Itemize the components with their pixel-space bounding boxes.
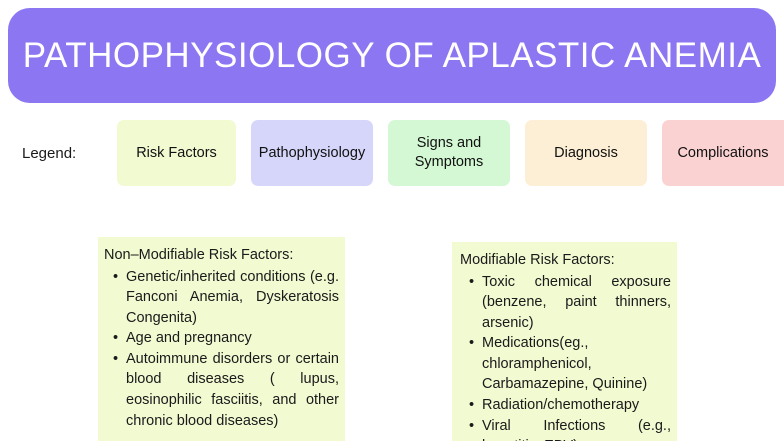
legend-chip-diagnosis[interactable]: Diagnosis — [525, 120, 647, 186]
list-item: Viral Infections (e.g., hepatitis, EBV) — [482, 416, 671, 441]
legend-chip-pathophysiology[interactable]: Pathophysiology — [251, 120, 373, 186]
page-title-banner: PATHOPHYSIOLOGY OF APLASTIC ANEMIA — [8, 8, 776, 103]
legend-chip-complications[interactable]: Complications — [662, 120, 784, 186]
page-title: PATHOPHYSIOLOGY OF APLASTIC ANEMIA — [23, 36, 762, 76]
note-box-heading: Non–Modifiable Risk Factors: — [104, 245, 339, 266]
note-box-bullet-list: Genetic/inherited conditions (e.g. Fanco… — [104, 267, 339, 432]
list-item: Autoimmune disorders or certain blood di… — [126, 349, 339, 431]
list-item: Medications(eg., chloramphenicol, Carbam… — [482, 333, 671, 395]
note-box-bullet-list: Toxic chemical exposure (benzene, paint … — [460, 272, 671, 441]
list-item: Genetic/inherited conditions (e.g. Fanco… — [126, 267, 339, 329]
note-box-heading: Modifiable Risk Factors: — [460, 250, 671, 271]
list-item: Toxic chemical exposure (benzene, paint … — [482, 272, 671, 334]
legend-chip-signs-and-symptoms[interactable]: Signs and Symptoms — [388, 120, 510, 186]
note-box-non-modifiable-risk-factors[interactable]: Non–Modifiable Risk Factors: Genetic/inh… — [98, 237, 345, 441]
legend: Legend: Risk Factors Pathophysiology Sig… — [0, 120, 784, 186]
legend-chip-label: Risk Factors — [136, 144, 217, 163]
list-item: Age and pregnancy — [126, 328, 339, 349]
note-box-modifiable-risk-factors[interactable]: Modifiable Risk Factors: Toxic chemical … — [452, 242, 677, 441]
legend-chip-label: Signs and Symptoms — [394, 134, 504, 172]
list-item: Radiation/chemotherapy — [482, 395, 671, 416]
legend-chip-label: Complications — [677, 144, 768, 163]
legend-label: Legend: — [22, 120, 76, 186]
legend-chip-risk-factors[interactable]: Risk Factors — [117, 120, 236, 186]
legend-chip-label: Diagnosis — [554, 144, 618, 163]
legend-chip-label: Pathophysiology — [259, 144, 365, 163]
